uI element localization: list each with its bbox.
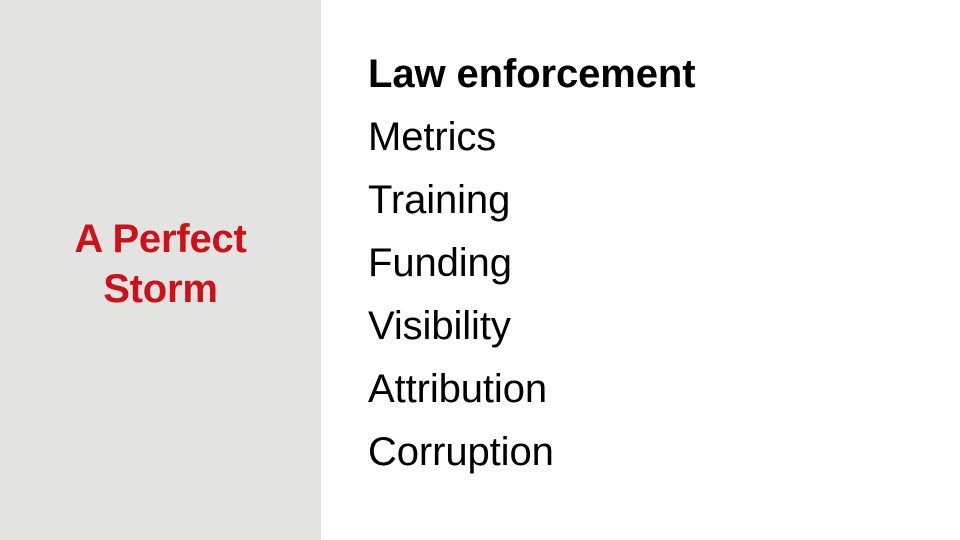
list-item: Attribution bbox=[368, 358, 948, 421]
slide-canvas: A Perfect Storm Law enforcement Metrics … bbox=[0, 0, 960, 540]
list-item: Visibility bbox=[368, 295, 948, 358]
list-item: Funding bbox=[368, 232, 948, 295]
list-item: Corruption bbox=[368, 421, 948, 484]
list-item: Training bbox=[368, 169, 948, 232]
list-item: Metrics bbox=[368, 106, 948, 169]
title-panel: A Perfect Storm bbox=[0, 0, 321, 540]
bullet-list: Law enforcement Metrics Training Funding… bbox=[368, 43, 948, 484]
content-panel: Law enforcement Metrics Training Funding… bbox=[321, 0, 960, 540]
list-item: Law enforcement bbox=[368, 43, 948, 106]
page-title: A Perfect Storm bbox=[41, 214, 281, 315]
